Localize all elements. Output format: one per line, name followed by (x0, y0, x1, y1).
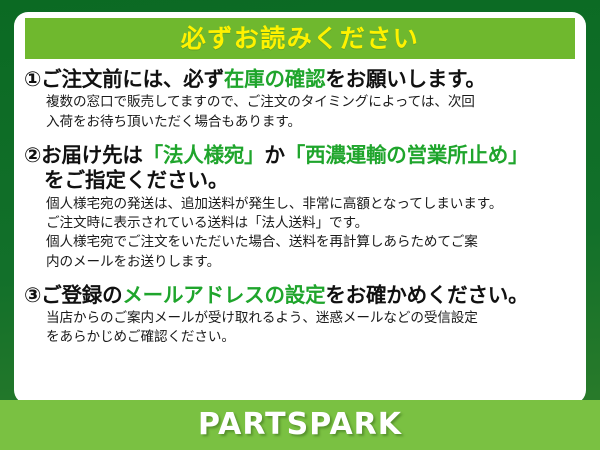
notice-header-bar: 必ずお読みください (25, 18, 575, 59)
notice-item-2-body-line-2: ご注文時に表示されている送料は「法人送料」です。 (46, 214, 576, 233)
notice-item-2-body: 個人様宅宛の発送は、追加送料が発生し、非常に高額となってしまいます。 ご注文時に… (46, 195, 576, 272)
notice-item-2-heading-accent-2: 「西濃運輸の営業所止め」 (285, 143, 529, 167)
brand-logo: PARTSPARK (198, 410, 402, 440)
notice-item-1-body: 複数の窓口で販売してますので、ご注文のタイミングによっては、次回 入荷をお待ち頂… (46, 93, 576, 132)
notice-item-3-heading-post: をお確かめください。 (325, 283, 528, 307)
notice-item-1-number: ① (24, 67, 41, 91)
notice-item-2-heading-accent: 「法人様宛」 (143, 143, 265, 167)
notice-item-2-number: ② (24, 143, 41, 167)
notice-footer-bar: PARTSPARK (0, 400, 600, 450)
notice-item-3-body-line-1: 当店からのご案内メールが受け取れるよう、迷惑メールなどの受信設定 (46, 309, 576, 328)
notice-item-2-heading-mid: か (264, 143, 284, 167)
notice-item-1-heading-pre: ご注文前には、必ず (41, 67, 224, 91)
notice-item-1-heading-post: をお願いします。 (325, 67, 485, 91)
notice-item-1-body-line-1: 複数の窓口で販売してますので、ご注文のタイミングによっては、次回 (46, 93, 576, 112)
notice-item-3-heading: ③ご登録のメールアドレスの設定をお確かめください。 (24, 282, 576, 308)
notice-item-2-body-line-3: 個人様宅宛でご注文をいただいた場合、送料を再計算しあらためてご案 (46, 233, 576, 252)
notice-item-2-body-line-1: 個人様宅宛の発送は、追加送料が発生し、非常に高額となってしまいます。 (46, 195, 576, 214)
notice-item-3-heading-pre: ご登録の (41, 283, 122, 307)
notice-item-3: ③ご登録のメールアドレスの設定をお確かめください。 当店からのご案内メールが受け… (24, 282, 576, 348)
notice-item-3-body: 当店からのご案内メールが受け取れるよう、迷惑メールなどの受信設定 をあらかじめご… (46, 309, 576, 348)
notice-item-3-number: ③ (24, 283, 41, 307)
notice-item-2-heading-pre: お届け先は (41, 143, 143, 167)
notice-item-2-heading: ②お届け先は「法人様宛」か「西濃運輸の営業所止め」 (24, 142, 576, 168)
notice-item-2: ②お届け先は「法人様宛」か「西濃運輸の営業所止め」 をご指定ください。 個人様宅… (24, 142, 576, 272)
notice-item-1-body-line-2: 入荷をお待ち頂いただく場合もあります。 (46, 113, 576, 132)
notice-item-1-heading-accent: 在庫の確認 (224, 67, 326, 91)
notice-item-3-heading-accent: メールアドレスの設定 (122, 283, 325, 307)
notice-item-1: ①ご注文前には、必ず在庫の確認をお願いします。 複数の窓口で販売してますので、ご… (24, 66, 576, 132)
notice-banner: 必ずお読みください ①ご注文前には、必ず在庫の確認をお願いします。 複数の窓口で… (0, 0, 600, 450)
notice-panel: 必ずお読みください ①ご注文前には、必ず在庫の確認をお願いします。 複数の窓口で… (14, 12, 586, 404)
notice-item-2-body-line-4: 内のメールをお送りします。 (46, 253, 576, 272)
notice-item-3-body-line-2: をあらかじめご確認ください。 (46, 328, 576, 347)
notice-header-title: 必ずお読みください (181, 26, 420, 51)
notice-item-2-heading-line-2: をご指定ください。 (44, 168, 576, 194)
notice-content: ①ご注文前には、必ず在庫の確認をお願いします。 複数の窓口で販売してますので、ご… (14, 62, 586, 404)
notice-item-1-heading: ①ご注文前には、必ず在庫の確認をお願いします。 (24, 66, 576, 92)
